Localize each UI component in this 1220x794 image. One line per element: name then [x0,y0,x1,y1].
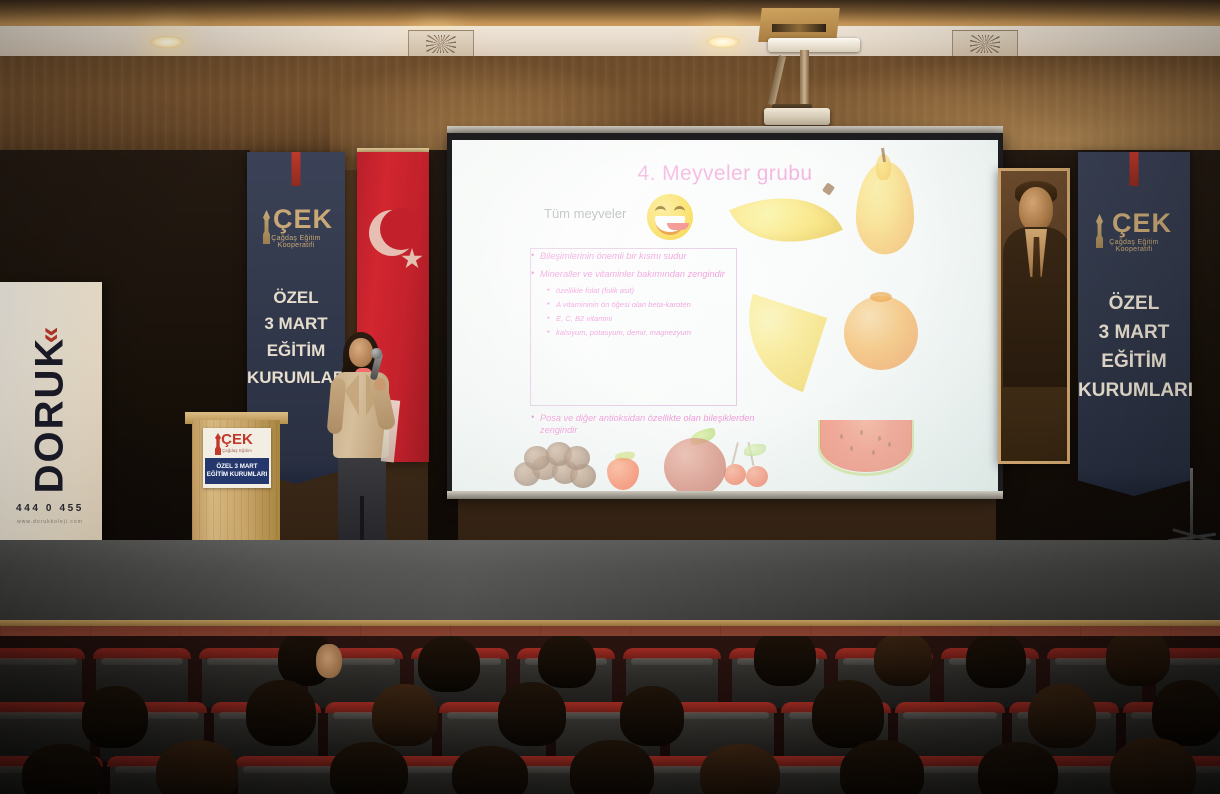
podium-sign-bar: ÖZEL 3 MART EĞİTİM KURUMLARI [205,458,269,484]
audience-head [978,742,1058,794]
doruk-phone-number: 444 0 455 [0,503,102,514]
slide-bullet-level1: Mineraller ve vitaminler bakımından zeng… [530,268,748,280]
cek-tagline-1: Çağdaş Eğitim [1078,239,1190,246]
podium-sign-line-1: ÖZEL 3 MART [216,463,257,471]
stage-floor [0,540,1220,628]
podium-sign: ÇEK Çağdaş Eğitim ÖZEL 3 MART EĞİTİM KUR… [203,428,271,488]
banner-line: KURUMLARI [1078,379,1190,402]
microphone-head [371,348,382,359]
audience-head [22,744,102,794]
cek-logo-block: ÇEK Çağdaş Eğitim Kooperatifi [247,206,345,249]
flag-crescent-cut [380,208,422,250]
emoji-eye-right [674,206,685,216]
audience-head [538,636,596,688]
ataturk-portrait [998,168,1070,464]
audience-head [874,636,932,686]
ceiling-downlight [706,36,740,48]
speaker-head [349,338,373,367]
slide-bullet-list: Bileşimlerinin önemli bir kısmı sudur Mi… [530,250,748,342]
audience-head [418,636,480,692]
podium-sign-line-2: EĞİTİM KURUMLARI [207,471,268,479]
banner-line: ÖZEL [1078,292,1190,315]
ac-vent-grille [408,30,474,58]
slide-bullet-level2: A vitamininin ön öğesi olan beta-karoten [530,300,748,310]
audience-seating [0,636,1220,794]
banner-line: 3 MART [247,314,345,335]
slide-bullet-level2: özellikle folat (folik asit) [530,286,748,296]
audience-face [316,644,342,678]
audience-head [82,686,148,748]
audience-head [372,684,438,746]
cek-logo-block: ÇEK Çağdaş Eğitim Kooperatifi [1078,210,1190,253]
doruk-banner: « DORUK 444 0 455 www.dorukkoleji.com [0,282,102,548]
banner-line: EĞİTİM [1078,350,1190,373]
audience-head [840,740,924,794]
emoji-tongue [667,223,689,230]
projector-cabling [772,24,826,32]
portrait-head [1019,187,1053,231]
audience-head [452,746,528,794]
ceiling-downlight [150,36,184,48]
emoji-eye-left [655,206,666,216]
audience-head [570,740,654,794]
cek-tagline-2: Kooperatifi [247,242,345,249]
auditorium-seat[interactable] [0,652,82,708]
projection-screen: 4. Meyveler grubu Tüm meyveler Bileşimle… [452,140,998,491]
fruit-blackberries [514,442,596,490]
banner-line: EĞİTİM [247,341,345,362]
audience-head [330,742,408,794]
screen-bottom-bar [447,491,1003,499]
cek-logo-text: ÇEK [1078,210,1190,237]
fruit-watermelon-slice [820,420,912,472]
speaker-hand [374,378,386,391]
slide-subtitle: Tüm meyveler [544,206,626,221]
cek-banner-right: ÇEK Çağdaş Eğitim Kooperatifi ÖZEL 3 MAR… [1078,152,1190,472]
audience-head [1028,684,1096,748]
fruit-cherries [720,440,772,488]
audience-head [754,636,816,686]
cek-tagline-2: Kooperatifi [1078,246,1190,253]
audience-head [966,636,1026,688]
audience-head [156,740,238,794]
fruit-orange [844,296,918,370]
slide-title: 4. Meyveler grubu [452,162,998,186]
slide-bullet-last: Posa ve diğer antioksidan özellikte olan… [530,412,755,436]
audience-head [700,744,780,794]
slide-bullet-level2: E, C, B2 vitamini [530,314,748,324]
banner-red-stripe [1130,152,1139,186]
cek-logo-text: ÇEK [247,206,345,233]
doruk-wordmark: DORUK [28,337,73,494]
fruit-strawberry [607,458,639,490]
banner-red-stripe [292,152,301,186]
grinning-smiling-eyes-emoji [647,194,693,240]
audience-head [620,686,684,746]
podium-logo-text: ÇEK [203,432,271,447]
auditorium-scene: 4. Meyveler grubu Tüm meyveler Bileşimle… [0,0,1220,794]
doruk-website: www.dorukkoleji.com [0,519,102,525]
podium-tagline: Çağdaş Eğitim [203,448,271,453]
ac-vent-grille [952,30,1018,58]
slide-bullet-level1: Bileşimlerinin önemli bir kısmı sudur [530,250,748,262]
audience-head [246,680,316,746]
audience-head [1110,738,1196,794]
fruit-orange-stem [870,292,892,302]
banner-line: 3 MART [1078,321,1190,344]
fruit-plum [664,438,726,491]
cek-tagline-1: Çağdaş Eğitim [247,235,345,242]
audience-head [1106,636,1170,686]
slide-bullet-level2: kalsiyum, potasyum, demir, magnezyum [530,328,748,338]
emoji-mouth [655,216,685,235]
audience-head [812,680,884,748]
audience-head [498,682,566,746]
ceiling-projector [764,108,830,125]
projector-arm [800,50,809,110]
banner-line: ÖZEL [247,288,345,309]
projector-mount-box [768,38,860,52]
microphone-stand [1190,468,1193,542]
audience-head [1152,680,1220,746]
